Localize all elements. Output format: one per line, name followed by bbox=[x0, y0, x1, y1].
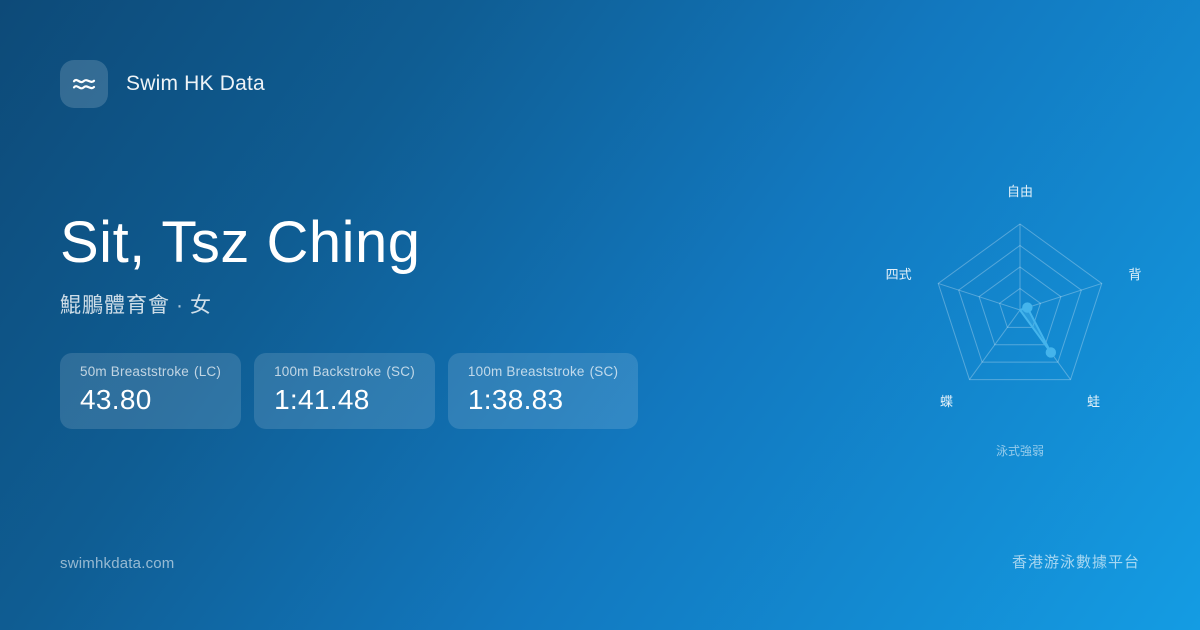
athlete-hero: Sit, Tsz Ching 鯤鵬體育會·女 bbox=[60, 212, 421, 319]
wave-approx-icon bbox=[60, 60, 108, 108]
stat-card-time: 1:41.48 bbox=[274, 384, 415, 416]
stat-card-course: (SC) bbox=[590, 364, 619, 379]
stat-card[interactable]: 100m Backstroke(SC) 1:41.48 bbox=[254, 353, 435, 429]
stat-card-event: 50m Breaststroke bbox=[80, 364, 189, 379]
radar-axis-labels: 自由背蛙蝶四式 bbox=[886, 184, 1142, 409]
athlete-club: 鯤鵬體育會 bbox=[60, 294, 170, 317]
stroke-strength-radar-chart: 自由背蛙蝶四式 泳式強弱 bbox=[870, 170, 1170, 480]
brand-header[interactable]: Swim HK Data bbox=[60, 60, 265, 108]
radar-value-polygon bbox=[1020, 308, 1051, 353]
radar-series-shape bbox=[1020, 308, 1051, 353]
meta-separator: · bbox=[170, 294, 190, 317]
radar-spoke bbox=[938, 283, 1020, 310]
stat-card[interactable]: 50m Breaststroke(LC) 43.80 bbox=[60, 353, 241, 429]
radar-axis-label: 四式 bbox=[886, 267, 912, 282]
radar-axis-label: 蛙 bbox=[1087, 394, 1100, 409]
stat-card[interactable]: 100m Breaststroke(SC) 1:38.83 bbox=[448, 353, 638, 429]
stat-card-course: (SC) bbox=[386, 364, 415, 379]
stat-card-list: 50m Breaststroke(LC) 43.80 100m Backstro… bbox=[60, 353, 638, 429]
stat-card-event: 100m Backstroke bbox=[274, 364, 381, 379]
stat-card-label: 50m Breaststroke(LC) bbox=[80, 364, 221, 379]
stat-card-label: 100m Breaststroke(SC) bbox=[468, 364, 618, 379]
stat-card-label: 100m Backstroke(SC) bbox=[274, 364, 415, 379]
footer-tagline: 香港游泳數據平台 bbox=[1012, 551, 1140, 572]
page-title: Sit, Tsz Ching bbox=[60, 212, 421, 275]
stat-card-course: (LC) bbox=[194, 364, 221, 379]
footer-site-url[interactable]: swimhkdata.com bbox=[60, 555, 175, 572]
brand-name: Swim HK Data bbox=[126, 72, 265, 96]
stat-card-time: 1:38.83 bbox=[468, 384, 618, 416]
radar-caption: 泳式強弱 bbox=[996, 444, 1044, 458]
radar-data-point bbox=[1046, 347, 1056, 357]
athlete-meta: 鯤鵬體育會·女 bbox=[60, 289, 421, 319]
athlete-gender: 女 bbox=[190, 294, 212, 317]
stat-card-time: 43.80 bbox=[80, 384, 221, 416]
stat-card-event: 100m Breaststroke bbox=[468, 364, 585, 379]
radar-data-point bbox=[1022, 302, 1032, 312]
radar-axis-label: 自由 bbox=[1007, 184, 1033, 199]
radar-axis-label: 背 bbox=[1128, 267, 1141, 282]
radar-axis-label: 蝶 bbox=[940, 394, 953, 409]
